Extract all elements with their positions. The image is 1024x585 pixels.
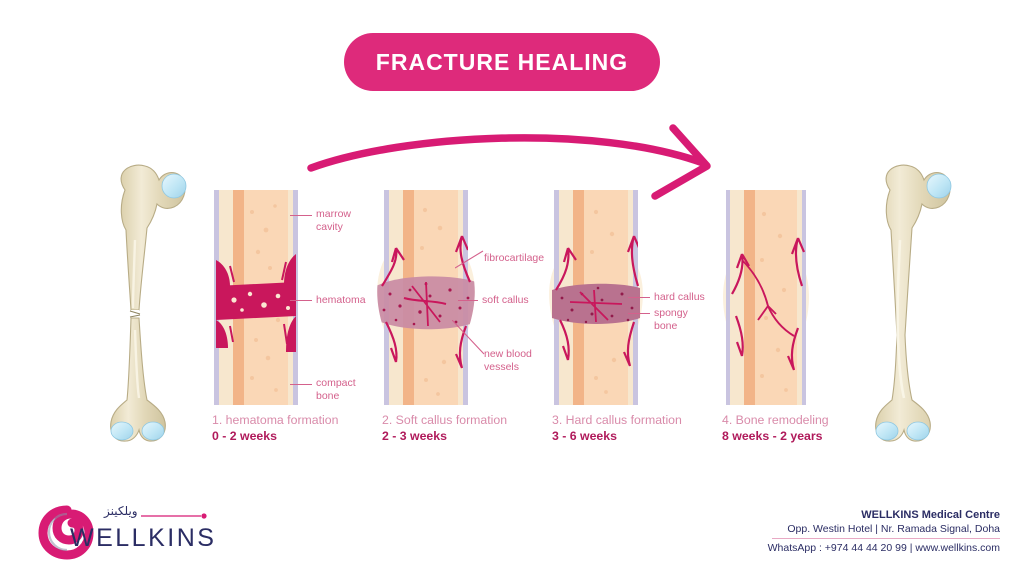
- leader-line-marrow-cavity: [290, 215, 312, 216]
- stage-1-caption: 1. hematoma formation 0 - 2 weeks: [212, 413, 377, 444]
- callout-spongy-bone: spongy bone: [654, 307, 688, 332]
- progression-arrow: [295, 110, 745, 205]
- stage-4-duration: 8 weeks - 2 years: [722, 428, 887, 444]
- leader-line-hard-callus: [628, 297, 650, 298]
- stage-3-name: 3. Hard callus formation: [552, 413, 717, 428]
- stage-1-name: 1. hematoma formation: [212, 413, 377, 428]
- infographic-canvas: FRACTURE HEALING: [0, 0, 1024, 585]
- stage-1-illustration: [200, 190, 312, 405]
- page-title: FRACTURE HEALING: [376, 49, 628, 76]
- stage-3-duration: 3 - 6 weeks: [552, 428, 717, 444]
- callout-hard-callus: hard callus: [654, 291, 705, 304]
- callout-hematoma: hematoma: [316, 294, 366, 307]
- stage-2-illustration: [370, 190, 482, 405]
- logo-wordmark: WELLKINS: [70, 524, 216, 553]
- leader-line-hematoma: [290, 300, 312, 301]
- footer-contact-block: WELLKINS Medical Centre Opp. Westin Hote…: [768, 508, 1000, 555]
- leader-line-compact-bone: [290, 384, 312, 385]
- callout-compact-bone: compact bone: [316, 377, 356, 402]
- leader-line-new-blood-vessels: [452, 320, 488, 358]
- leader-line-fibrocartilage: [455, 248, 487, 270]
- healed-femur: [860, 160, 960, 450]
- page-title-pill: FRACTURE HEALING: [344, 33, 660, 91]
- leader-line-spongy-bone: [628, 313, 650, 314]
- logo-arabic-text: ويلكينز: [104, 504, 138, 518]
- clinic-name: WELLKINS Medical Centre: [768, 508, 1000, 522]
- clinic-address: Opp. Westin Hotel | Nr. Ramada Signal, D…: [768, 522, 1000, 536]
- stage-4-name: 4. Bone remodeling: [722, 413, 887, 428]
- stage-4-caption: 4. Bone remodeling 8 weeks - 2 years: [722, 413, 887, 444]
- callout-new-blood-vessels: new blood vessels: [484, 348, 532, 373]
- stage-1-duration: 0 - 2 weeks: [212, 428, 377, 444]
- clinic-whatsapp-website: WhatsApp : +974 44 44 20 99 | www.wellki…: [768, 541, 1000, 555]
- stage-2-caption: 2. Soft callus formation 2 - 3 weeks: [382, 413, 547, 444]
- stage-2-duration: 2 - 3 weeks: [382, 428, 547, 444]
- stage-4-illustration: [710, 190, 822, 405]
- callout-marrow-cavity: marrow cavity: [316, 208, 351, 233]
- stage-2-name: 2. Soft callus formation: [382, 413, 547, 428]
- footer-divider: [772, 538, 1000, 539]
- leader-line-soft-callus: [458, 300, 478, 301]
- stage-3-caption: 3. Hard callus formation 3 - 6 weeks: [552, 413, 717, 444]
- callout-soft-callus: soft callus: [482, 294, 529, 307]
- fractured-femur: [95, 160, 195, 450]
- callout-fibrocartilage: fibrocartilage: [484, 252, 544, 265]
